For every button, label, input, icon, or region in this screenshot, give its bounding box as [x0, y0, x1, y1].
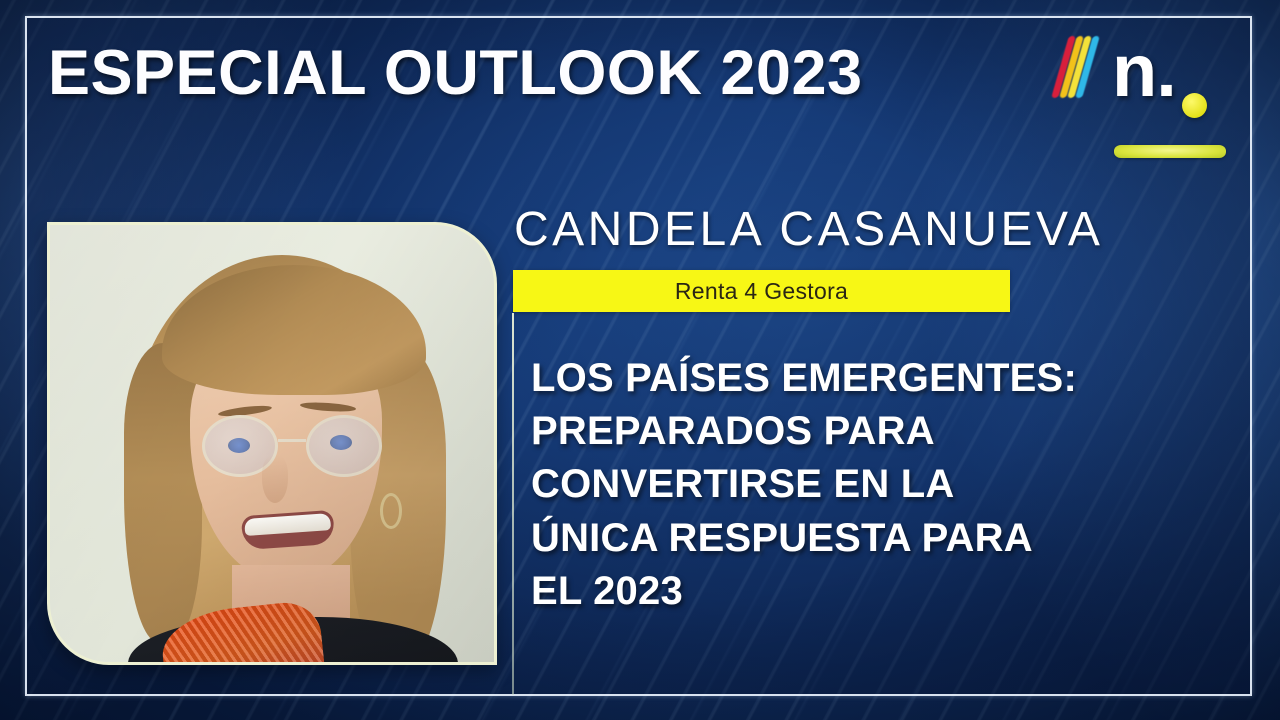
page-title: ESPECIAL OUTLOOK 2023 — [48, 42, 863, 105]
affiliation-label: Renta 4 Gestora — [675, 278, 848, 305]
photo-glasses — [202, 415, 390, 477]
photo-earring — [380, 493, 402, 529]
colored-slashes-icon — [1058, 36, 1104, 100]
headline-line: PREPARADOS PARA — [531, 405, 1221, 458]
headline-text: LOS PAÍSES EMERGENTES: PREPARADOS PARA C… — [531, 352, 1221, 618]
headline-line: ÚNICA RESPUESTA PARA — [531, 512, 1221, 565]
photo-nose — [262, 455, 288, 503]
headline-line: CONVERTIRSE EN LA — [531, 458, 1221, 511]
photo-hair-left — [124, 343, 202, 643]
yellow-dot-icon — [1182, 93, 1207, 118]
broadcast-lower-third-slide: ESPECIAL OUTLOOK 2023 n. — [0, 0, 1280, 720]
brand-logo: n. — [1050, 30, 1230, 160]
headline-line: LOS PAÍSES EMERGENTES: — [531, 352, 1221, 405]
speaker-photo — [50, 225, 494, 662]
vertical-divider — [512, 313, 514, 695]
yellow-underline-bar-icon — [1114, 145, 1226, 158]
photo-teeth — [244, 513, 331, 536]
affiliation-badge: Renta 4 Gestora — [513, 270, 1010, 312]
brand-wordmark: n. — [1112, 34, 1176, 108]
speaker-photo-frame — [47, 222, 497, 665]
photo-lens-right — [306, 415, 382, 477]
headline-line: EL 2023 — [531, 565, 1221, 618]
speaker-name: CANDELA CASANUEVA — [514, 206, 1103, 254]
photo-glasses-bridge — [278, 439, 306, 442]
